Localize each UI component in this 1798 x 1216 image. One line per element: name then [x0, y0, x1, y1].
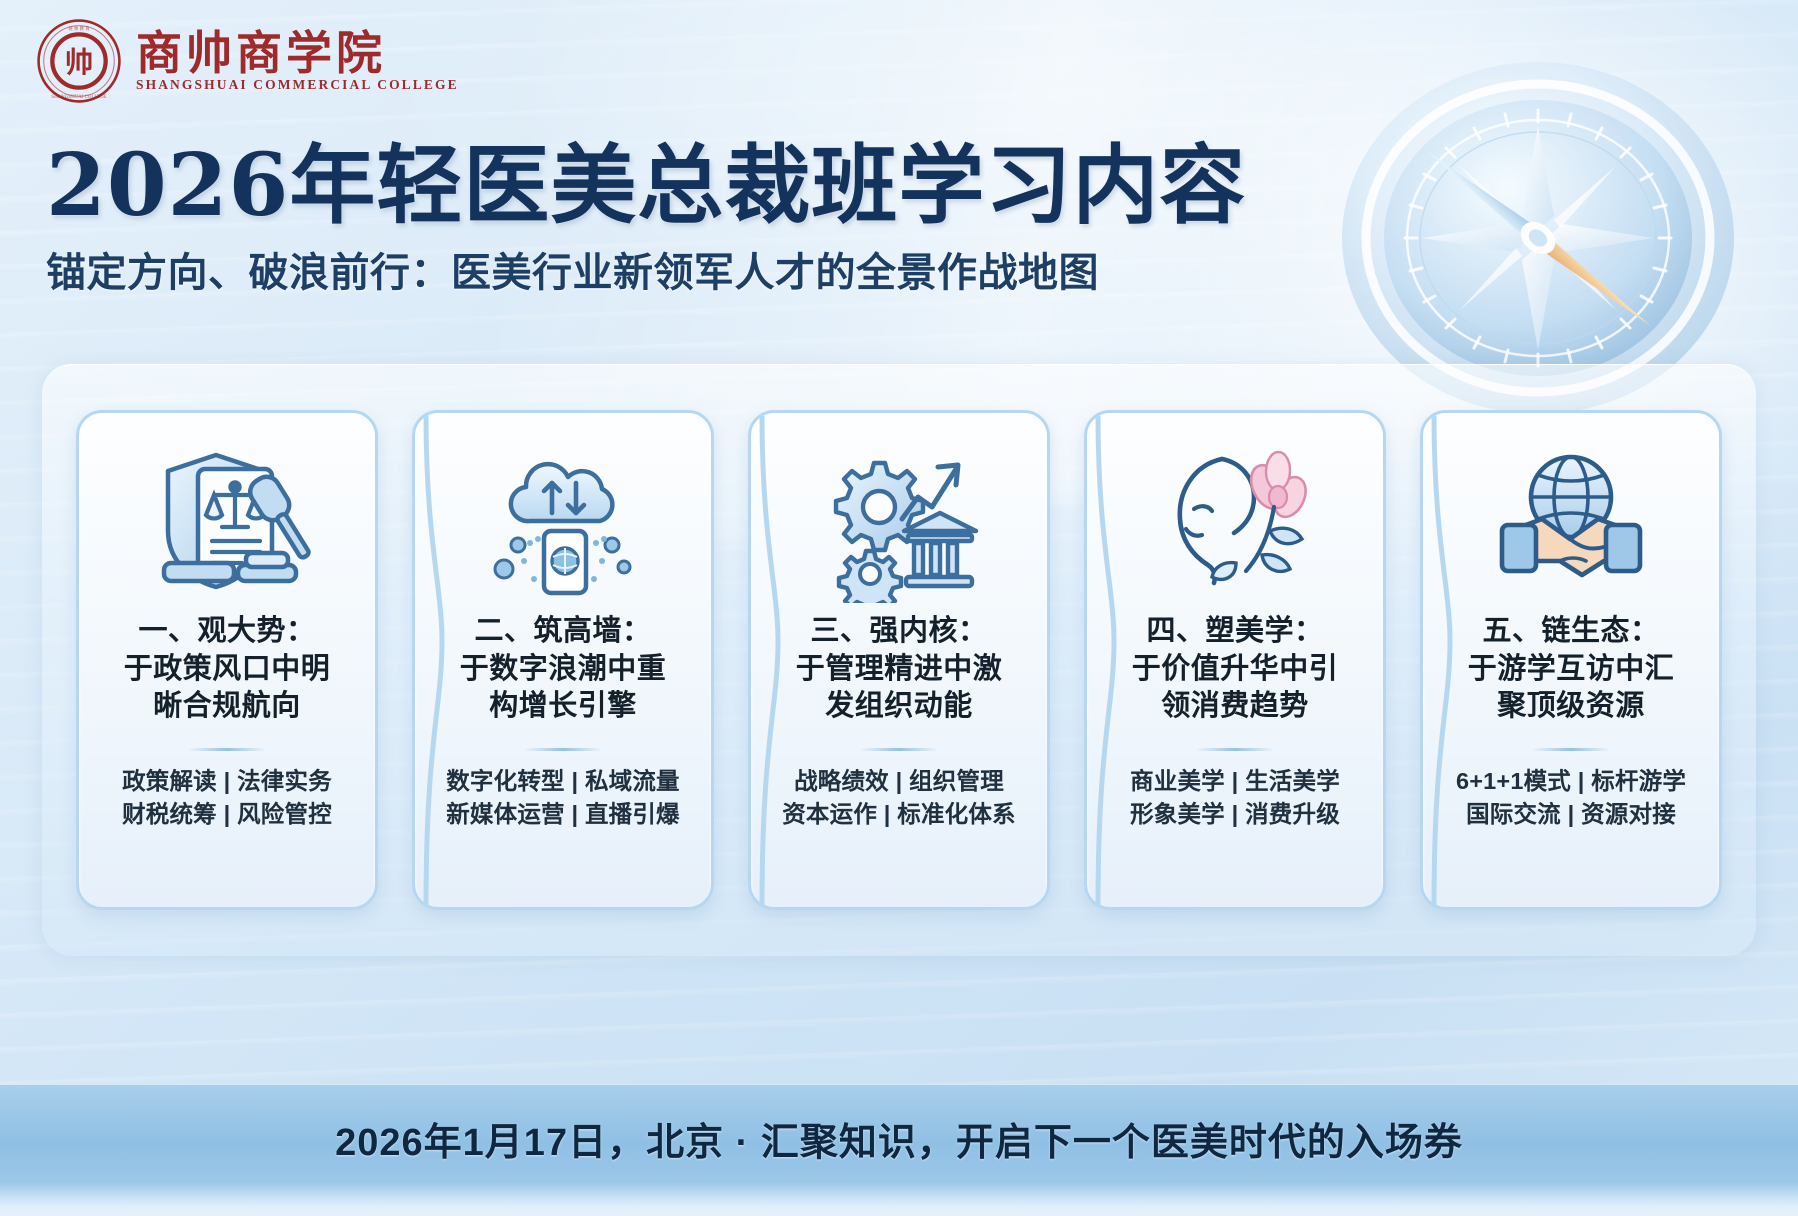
svg-text:帅: 帅 — [65, 45, 93, 79]
shield-document-gavel-icon — [141, 435, 313, 603]
card-tags: 6+1+1模式 | 标杆游学 国际交流 | 资源对接 — [1456, 765, 1686, 831]
card-title: 五、链生态： 于游学互访中汇 聚顶级资源 — [1468, 613, 1675, 726]
svg-text:SHANGSHUAI COLLEGE: SHANGSHUAI COLLEGE — [51, 95, 107, 100]
card-notch-shape — [1084, 413, 1118, 907]
module-card-1[interactable]: 一、观大势： 于政策风口中明 晰合规航向 政策解读 | 法律实务 财税统筹 | … — [76, 410, 378, 910]
card-divider — [1532, 748, 1610, 751]
seal-icon: 商 帅 教 育 SHANGSHUAI COLLEGE 帅 — [36, 18, 122, 104]
card-notch-shape — [748, 413, 782, 907]
card-tags: 数字化转型 | 私域流量 新媒体运营 | 直播引爆 — [446, 765, 680, 831]
module-card-3[interactable]: 三、强内核： 于管理精进中激 发组织动能 战略绩效 | 组织管理 资本运作 | … — [748, 410, 1050, 910]
poster-root: 商 帅 教 育 SHANGSHUAI COLLEGE 帅 商帅商学院 SHANG… — [0, 0, 1798, 1216]
face-flower-beauty-icon — [1149, 435, 1321, 603]
module-card-2[interactable]: 二、筑高墙： 于数字浪潮中重 构增长引擎 数字化转型 | 私域流量 新媒体运营 … — [412, 410, 714, 910]
gear-growth-bank-icon — [813, 435, 985, 603]
brand-name-en: SHANGSHUAI COMMERCIAL COLLEGE — [136, 78, 459, 92]
card-divider — [524, 748, 602, 751]
module-card-5[interactable]: 五、链生态： 于游学互访中汇 聚顶级资源 6+1+1模式 | 标杆游学 国际交流… — [1420, 410, 1722, 910]
globe-handshake-icon — [1485, 435, 1657, 603]
page-title: 2026年轻医美总裁班学习内容 — [46, 140, 1246, 231]
footer-text: 2026年1月17日，北京 · 汇聚知识，开启下一个医美时代的入场券 — [335, 1111, 1463, 1166]
card-tags: 战略绩效 | 组织管理 资本运作 | 标准化体系 — [782, 765, 1016, 831]
cards-container: 一、观大势： 于政策风口中明 晰合规航向 政策解读 | 法律实务 财税统筹 | … — [42, 364, 1756, 956]
card-notch-shape — [412, 413, 446, 907]
title-block: 2026年轻医美总裁班学习内容 锚定方向、破浪前行：医美行业新领军人才的全景作战… — [46, 140, 1246, 297]
module-card-4[interactable]: 四、塑美学： 于价值升华中引 领消费趋势 商业美学 | 生活美学 形象美学 | … — [1084, 410, 1386, 910]
card-divider — [188, 748, 266, 751]
card-title: 三、强内核： 于管理精进中激 发组织动能 — [796, 613, 1003, 726]
footer-banner: 2026年1月17日，北京 · 汇聚知识，开启下一个医美时代的入场券 — [0, 1084, 1798, 1216]
card-tags: 政策解读 | 法律实务 财税统筹 | 风险管控 — [122, 765, 332, 831]
card-divider — [1196, 748, 1274, 751]
card-tags: 商业美学 | 生活美学 形象美学 | 消费升级 — [1130, 765, 1340, 831]
card-title: 一、观大势： 于政策风口中明 晰合规航向 — [124, 613, 331, 726]
card-notch-shape — [1420, 413, 1454, 907]
page-subtitle: 锚定方向、破浪前行：医美行业新领军人才的全景作战地图 — [46, 249, 1246, 297]
card-title: 二、筑高墙： 于数字浪潮中重 构增长引擎 — [460, 613, 667, 726]
brand-name-cn: 商帅商学院 — [136, 30, 459, 76]
card-divider — [860, 748, 938, 751]
card-title: 四、塑美学： 于价值升华中引 领消费趋势 — [1132, 613, 1339, 726]
cloud-mobile-data-icon — [477, 435, 649, 603]
cards-tray: 一、观大势： 于政策风口中明 晰合规航向 政策解读 | 法律实务 财税统筹 | … — [42, 364, 1756, 956]
brand-logo: 商 帅 教 育 SHANGSHUAI COLLEGE 帅 商帅商学院 SHANG… — [36, 18, 459, 104]
